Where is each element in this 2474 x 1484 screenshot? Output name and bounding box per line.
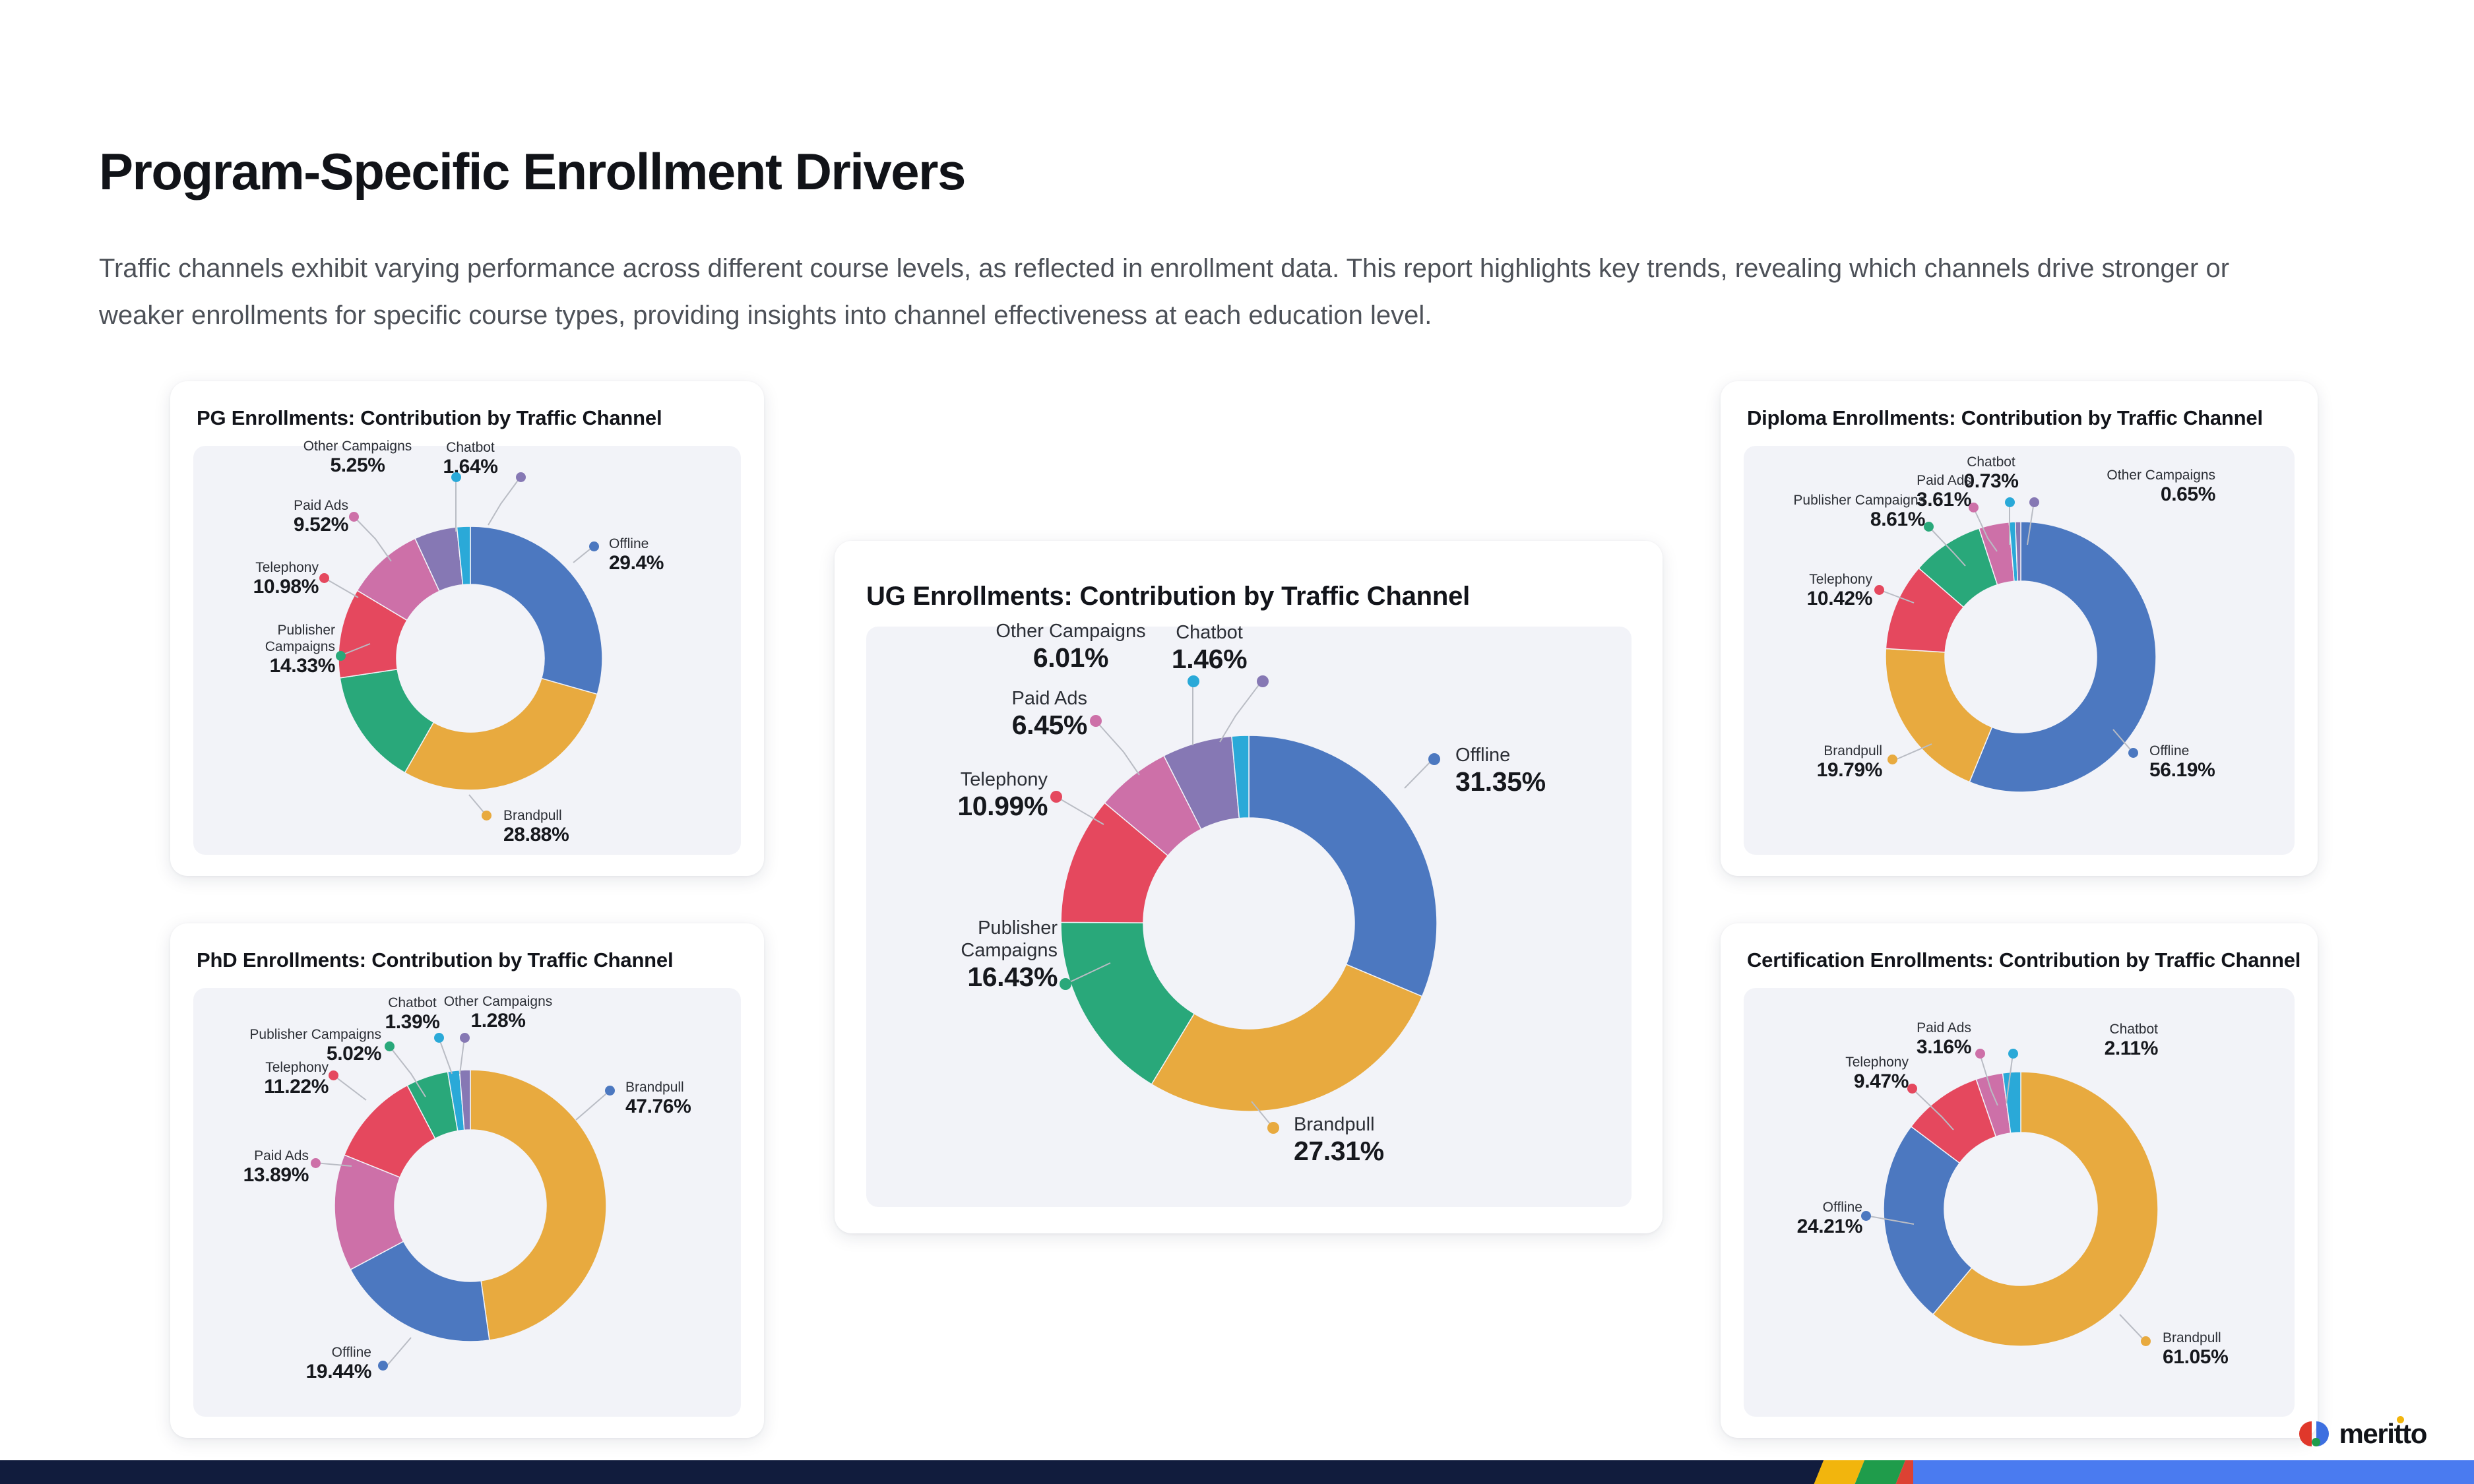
plot-area-pg: Chatbot 1.64% Other Campaigns 5.25% Paid…: [193, 446, 741, 855]
callout-dot-ug-publisher: [1060, 978, 1071, 990]
callout-dot-ug-other: [1257, 675, 1269, 687]
callout-cert-paid-ads: Paid Ads 3.16%: [1843, 1020, 1971, 1059]
callout-dot-pg-paid-ads: [349, 512, 359, 522]
callout-dot-cert-brandpull: [2141, 1336, 2151, 1346]
callout-phd-paid-ads: Paid Ads 13.89%: [206, 1148, 309, 1187]
callout-cert-brandpull: Brandpull 61.05%: [2163, 1330, 2228, 1369]
callout-pg-publisher: Publisher Campaigns 14.33%: [187, 622, 335, 677]
callout-cert-telephony: Telephony 9.47%: [1780, 1054, 1909, 1093]
callout-dot-ug-telephony: [1050, 791, 1062, 803]
footer-color-bar: [0, 1460, 2474, 1484]
chart-card-diploma: Diploma Enrollments: Contribution by Tra…: [1721, 381, 2318, 876]
callout-dot-pg-chatbot: [451, 472, 461, 482]
callout-pg-paid-ads: Paid Ads 9.52%: [200, 497, 348, 536]
callout-phd-offline: Offline 19.44%: [246, 1344, 371, 1383]
callout-dot-diploma-paid-ads: [1969, 503, 1979, 512]
logo-text: meritto: [2339, 1418, 2426, 1450]
callout-pg-telephony: Telephony 10.98%: [180, 559, 319, 598]
callout-phd-brandpull: Brandpull 47.76%: [625, 1079, 691, 1118]
callout-dot-diploma-chatbot: [2005, 497, 2015, 507]
callout-dot-phd-other: [460, 1033, 470, 1043]
logo-yellow-dot: [2397, 1416, 2404, 1423]
callout-ug-offline: Offline 31.35%: [1455, 744, 1546, 797]
chart-title-ug: UG Enrollments: Contribution by Traffic …: [866, 582, 1470, 611]
callout-dot-phd-chatbot: [434, 1033, 444, 1043]
callout-dot-pg-other: [516, 472, 526, 482]
callout-cert-chatbot: Chatbot 2.11%: [2026, 1021, 2158, 1060]
callout-dot-phd-telephony: [329, 1070, 338, 1080]
callout-dot-ug-offline: [1428, 753, 1440, 765]
callout-dot-phd-offline: [378, 1361, 388, 1371]
callout-diploma-offline: Offline 56.19%: [2149, 743, 2215, 782]
callout-diploma-telephony: Telephony 10.42%: [1750, 571, 1872, 610]
callout-phd-other: Other Campaigns 1.28%: [444, 993, 553, 1032]
callout-dot-phd-publisher: [385, 1041, 395, 1051]
callout-dot-pg-brandpull: [482, 811, 492, 820]
meritto-logo-mark-icon: [2299, 1419, 2333, 1448]
plot-area-certification: Chatbot 2.11% Paid Ads 3.16% Telephony 9…: [1744, 988, 2295, 1417]
footer-bar-navy: [0, 1460, 1841, 1484]
callout-diploma-brandpull: Brandpull 19.79%: [1760, 743, 1882, 782]
plot-area-phd: Chatbot 1.39% Other Campaigns 1.28% Publ…: [193, 988, 741, 1417]
chart-card-phd: PhD Enrollments: Contribution by Traffic…: [170, 923, 764, 1438]
callout-dot-diploma-publisher: [1924, 522, 1934, 532]
callout-ug-brandpull: Brandpull 27.31%: [1294, 1113, 1384, 1167]
callout-ug-paid-ads: Paid Ads 6.45%: [886, 687, 1087, 741]
callout-dot-pg-offline: [589, 541, 599, 551]
callout-phd-telephony: Telephony 11.22%: [210, 1059, 329, 1098]
brand-logo: meritto: [2299, 1418, 2426, 1450]
callout-dot-ug-chatbot: [1188, 675, 1199, 687]
chart-title-certification: Certification Enrollments: Contribution …: [1747, 948, 2300, 972]
page-title: Program-Specific Enrollment Drivers: [99, 142, 965, 202]
callout-diploma-chatbot: Chatbot 0.73%: [1963, 454, 2018, 493]
plot-area-diploma: Chatbot 0.73% Other Campaigns 0.65% Paid…: [1744, 446, 2295, 855]
callout-dot-cert-paid-ads: [1975, 1049, 1985, 1059]
callout-ug-chatbot: Chatbot 1.46%: [1172, 621, 1247, 675]
page-subtitle: Traffic channels exhibit varying perform…: [99, 245, 2289, 339]
callout-dot-diploma-brandpull: [1887, 755, 1897, 764]
callout-pg-brandpull: Brandpull 28.88%: [503, 807, 569, 846]
callout-ug-telephony: Telephony 10.99%: [866, 768, 1048, 822]
callout-cert-offline: Offline 24.21%: [1763, 1199, 1862, 1238]
chart-title-diploma: Diploma Enrollments: Contribution by Tra…: [1747, 406, 2263, 430]
plot-area-ug: Chatbot 1.46% Other Campaigns 6.01% Paid…: [866, 627, 1632, 1207]
callout-dot-cert-offline: [1861, 1211, 1871, 1221]
logo-red-shape: [2299, 1421, 2312, 1446]
callout-ug-publisher: Publisher Campaigns 16.43%: [873, 917, 1058, 993]
chart-title-pg: PG Enrollments: Contribution by Traffic …: [197, 406, 662, 430]
callout-dot-cert-telephony: [1907, 1084, 1917, 1094]
callout-dot-diploma-offline: [2128, 748, 2138, 758]
callout-pg-other: Other Campaigns 5.25%: [303, 438, 412, 477]
callout-pg-offline: Offline 29.4%: [609, 536, 664, 574]
callout-ug-other: Other Campaigns 6.01%: [996, 620, 1145, 673]
chart-card-pg: PG Enrollments: Contribution by Traffic …: [170, 381, 764, 876]
chart-card-ug: UG Enrollments: Contribution by Traffic …: [835, 541, 1663, 1233]
callout-dot-pg-telephony: [319, 573, 329, 583]
chart-card-certification: Certification Enrollments: Contribution …: [1721, 923, 2318, 1438]
callout-phd-chatbot: Chatbot 1.39%: [385, 995, 439, 1034]
callout-dot-phd-paid-ads: [311, 1158, 321, 1168]
callout-pg-chatbot: Chatbot 1.64%: [443, 439, 497, 478]
callout-dot-cert-chatbot: [2008, 1049, 2018, 1059]
callout-diploma-other: Other Campaigns 0.65%: [2044, 467, 2215, 506]
footer-bar-blue: [1913, 1460, 2474, 1484]
chart-title-phd: PhD Enrollments: Contribution by Traffic…: [197, 948, 673, 972]
callout-dot-diploma-other: [2029, 497, 2039, 507]
callout-dot-ug-brandpull: [1267, 1122, 1279, 1134]
callout-dot-pg-publisher: [336, 651, 346, 661]
callout-dot-diploma-telephony: [1874, 585, 1884, 595]
callout-dot-phd-brandpull: [605, 1086, 615, 1096]
callout-diploma-publisher: Publisher Campaigns 8.61%: [1750, 492, 1925, 531]
callout-dot-ug-paid-ads: [1090, 715, 1102, 727]
